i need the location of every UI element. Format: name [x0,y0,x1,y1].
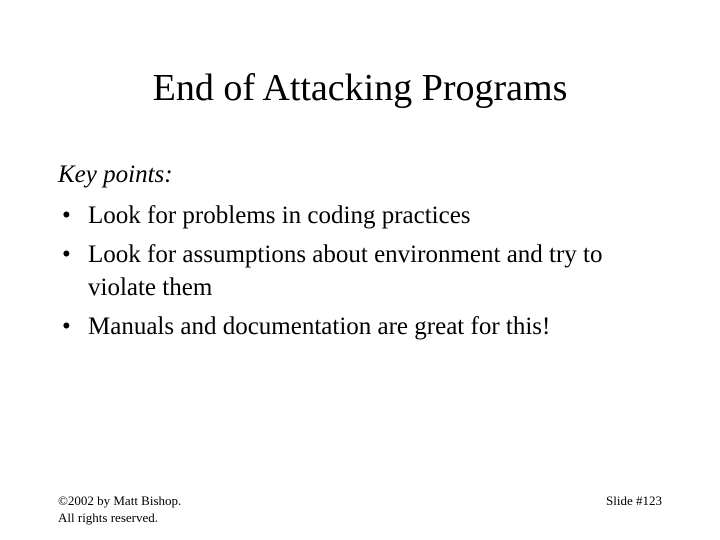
list-item-text: Look for problems in coding practices [88,199,666,232]
bullet-dot-icon: • [62,238,74,271]
slide-footer: ©2002 by Matt Bishop. All rights reserve… [58,492,662,532]
bullet-dot-icon: • [62,199,74,232]
list-item-text: Look for assumptions about environment a… [88,238,666,304]
copyright-notice: ©2002 by Matt Bishop. All rights reserve… [58,492,181,526]
list-item: • Look for problems in coding practices [58,199,666,232]
slide-body: Key points: • Look for problems in codin… [58,158,666,349]
bullet-list: • Look for problems in coding practices … [58,199,666,343]
slide-number-label: Slide #123 [606,492,662,509]
list-item-text: Manuals and documentation are great for … [88,310,666,343]
slide-canvas: End of Attacking Programs Key points: • … [0,0,720,540]
copyright-line-2: All rights reserved. [58,509,181,526]
key-points-label: Key points: [58,158,666,191]
copyright-line-1: ©2002 by Matt Bishop. [58,492,181,509]
list-item: • Look for assumptions about environment… [58,238,666,304]
list-item: • Manuals and documentation are great fo… [58,310,666,343]
bullet-dot-icon: • [62,310,74,343]
page-title: End of Attacking Programs [0,66,720,110]
